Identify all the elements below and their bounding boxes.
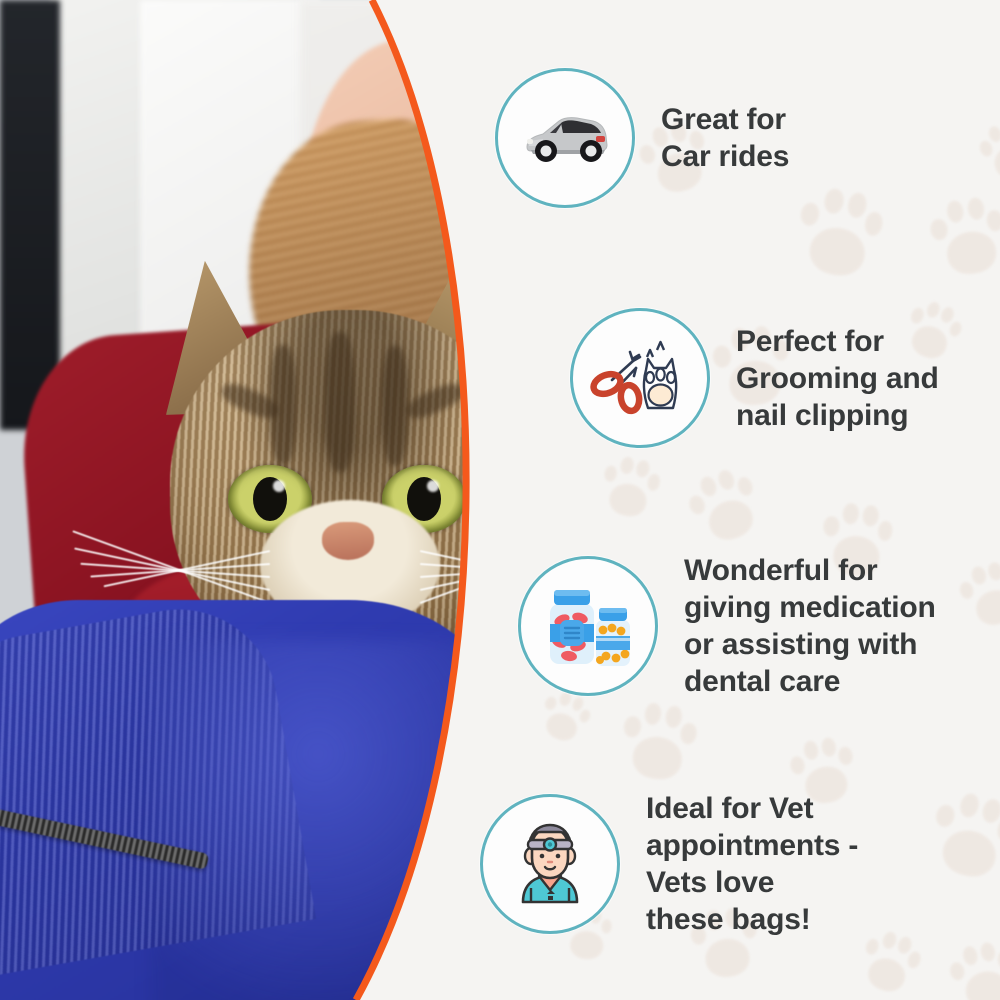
cat-stripe — [382, 346, 408, 466]
feature-list: Great for Car rides — [470, 0, 1000, 1000]
medicine-bottles-icon — [538, 580, 638, 672]
nail-clipper-paw-icon — [590, 332, 690, 424]
feature-text: Great for Car rides — [661, 101, 789, 175]
veterinarian-icon — [501, 818, 599, 910]
feature-item-grooming[interactable]: Perfect for Grooming and nail clipping — [570, 308, 939, 448]
feature-item-vet[interactable]: Ideal for Vet appointments - Vets love t… — [480, 790, 858, 938]
feature-text: Ideal for Vet appointments - Vets love t… — [646, 790, 858, 938]
cat-stripe — [325, 332, 355, 472]
car-icon — [517, 103, 613, 173]
feature-badge — [495, 68, 635, 208]
feature-badge — [480, 794, 620, 934]
photo-dark-edge — [0, 0, 60, 430]
feature-text: Perfect for Grooming and nail clipping — [736, 323, 939, 434]
cat-nose — [322, 522, 374, 560]
feature-item-car-rides[interactable]: Great for Car rides — [495, 68, 789, 208]
feature-badge — [570, 308, 710, 448]
feature-item-medication[interactable]: Wonderful for giving medication or assis… — [518, 552, 936, 700]
feature-badge — [518, 556, 658, 696]
product-feature-graphic: Great for Car rides — [0, 0, 1000, 1000]
feature-text: Wonderful for giving medication or assis… — [684, 552, 936, 700]
